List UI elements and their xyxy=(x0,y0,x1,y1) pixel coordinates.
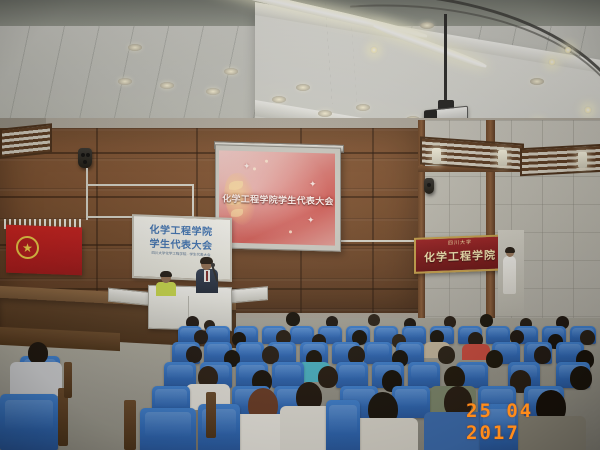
wood-panel-seam xyxy=(96,128,98,313)
downlight-icon xyxy=(118,78,132,85)
auditorium-seat[interactable] xyxy=(140,408,196,450)
conduit-pipe xyxy=(330,240,420,242)
seated-presider xyxy=(156,272,176,294)
flag-emblem-icon: ★ xyxy=(16,236,39,260)
standing-attendee-right xyxy=(503,248,516,294)
camera-datestamp: 25 04 2017 xyxy=(466,400,600,444)
dove-icon: ✦ xyxy=(307,215,315,226)
wood-panel-seam xyxy=(0,196,420,198)
audience-head xyxy=(318,366,338,388)
wall-sconce-light xyxy=(498,150,507,166)
wood-panel-seam xyxy=(372,128,374,313)
speaker-tie xyxy=(206,271,208,281)
confetti-dot xyxy=(253,167,256,170)
downlight-icon xyxy=(224,68,238,75)
attendee-torso xyxy=(503,256,516,294)
wood-panel-seam xyxy=(0,152,420,154)
acoustic-slat-panel xyxy=(0,123,52,158)
audience-head xyxy=(286,312,300,326)
conduit-pipe xyxy=(86,184,194,186)
microphone-icon xyxy=(211,263,215,267)
projector-mount-pole xyxy=(444,14,447,110)
presider-torso xyxy=(156,282,176,296)
downlight-icon xyxy=(356,104,370,111)
audience-head xyxy=(570,366,592,390)
dove-icon: ✦ xyxy=(243,161,251,172)
wall-sconce-light xyxy=(432,148,441,164)
auditorium-seat[interactable] xyxy=(0,394,58,450)
spotlight-icon xyxy=(370,46,378,54)
wall-sconce-light xyxy=(578,152,587,168)
downlight-icon xyxy=(206,88,220,95)
seat-armrest xyxy=(124,400,136,450)
presider-hair xyxy=(160,271,172,277)
downlight-icon xyxy=(160,82,174,89)
audience-head xyxy=(368,314,380,326)
auditorium-seat[interactable] xyxy=(272,362,304,388)
conduit-pipe xyxy=(86,168,88,220)
auditorium-seat[interactable] xyxy=(364,342,392,364)
dove-icon: ✦ xyxy=(309,179,317,190)
confetti-dot xyxy=(265,160,268,163)
wall-speaker-right xyxy=(424,178,434,194)
confetti-dot xyxy=(289,230,292,233)
audience-head xyxy=(186,346,202,363)
star-icon: ★ xyxy=(22,241,33,253)
audience-head xyxy=(438,346,455,364)
spotlight-icon xyxy=(564,46,572,54)
audience-head xyxy=(486,350,503,368)
auditorium-seat[interactable] xyxy=(236,342,264,364)
wall-speaker-left xyxy=(78,148,92,168)
banner-college-name: 化学工程学院 xyxy=(416,246,504,265)
acoustic-slat-panel xyxy=(520,144,600,176)
downlight-icon xyxy=(318,110,332,117)
downlight-icon xyxy=(128,44,142,51)
downlight-icon xyxy=(420,22,434,29)
auditorium-photo: ✦ ✦ ✦ 化学工程学院学生代表大会 化学工程学院 学生代表大会 四川大学化学工… xyxy=(0,0,600,450)
auditorium-seat[interactable] xyxy=(336,362,368,388)
attendee-hair xyxy=(505,247,515,253)
downlight-icon xyxy=(296,84,310,91)
auditorium-seat[interactable] xyxy=(326,400,360,450)
projector-screen-image: ✦ ✦ ✦ 化学工程学院学生代表大会 xyxy=(219,150,335,245)
seat-armrest xyxy=(64,362,72,398)
downlight-icon xyxy=(530,78,544,85)
auditorium-seat[interactable] xyxy=(408,362,440,388)
auditorium-seat[interactable] xyxy=(198,404,240,450)
audience-torso xyxy=(10,362,62,396)
seat-armrest xyxy=(206,392,216,438)
audience-head xyxy=(28,342,48,364)
spotlight-icon xyxy=(548,58,556,66)
downlight-icon xyxy=(272,96,286,103)
conduit-pipe xyxy=(192,184,194,218)
spotlight-icon xyxy=(584,106,592,114)
